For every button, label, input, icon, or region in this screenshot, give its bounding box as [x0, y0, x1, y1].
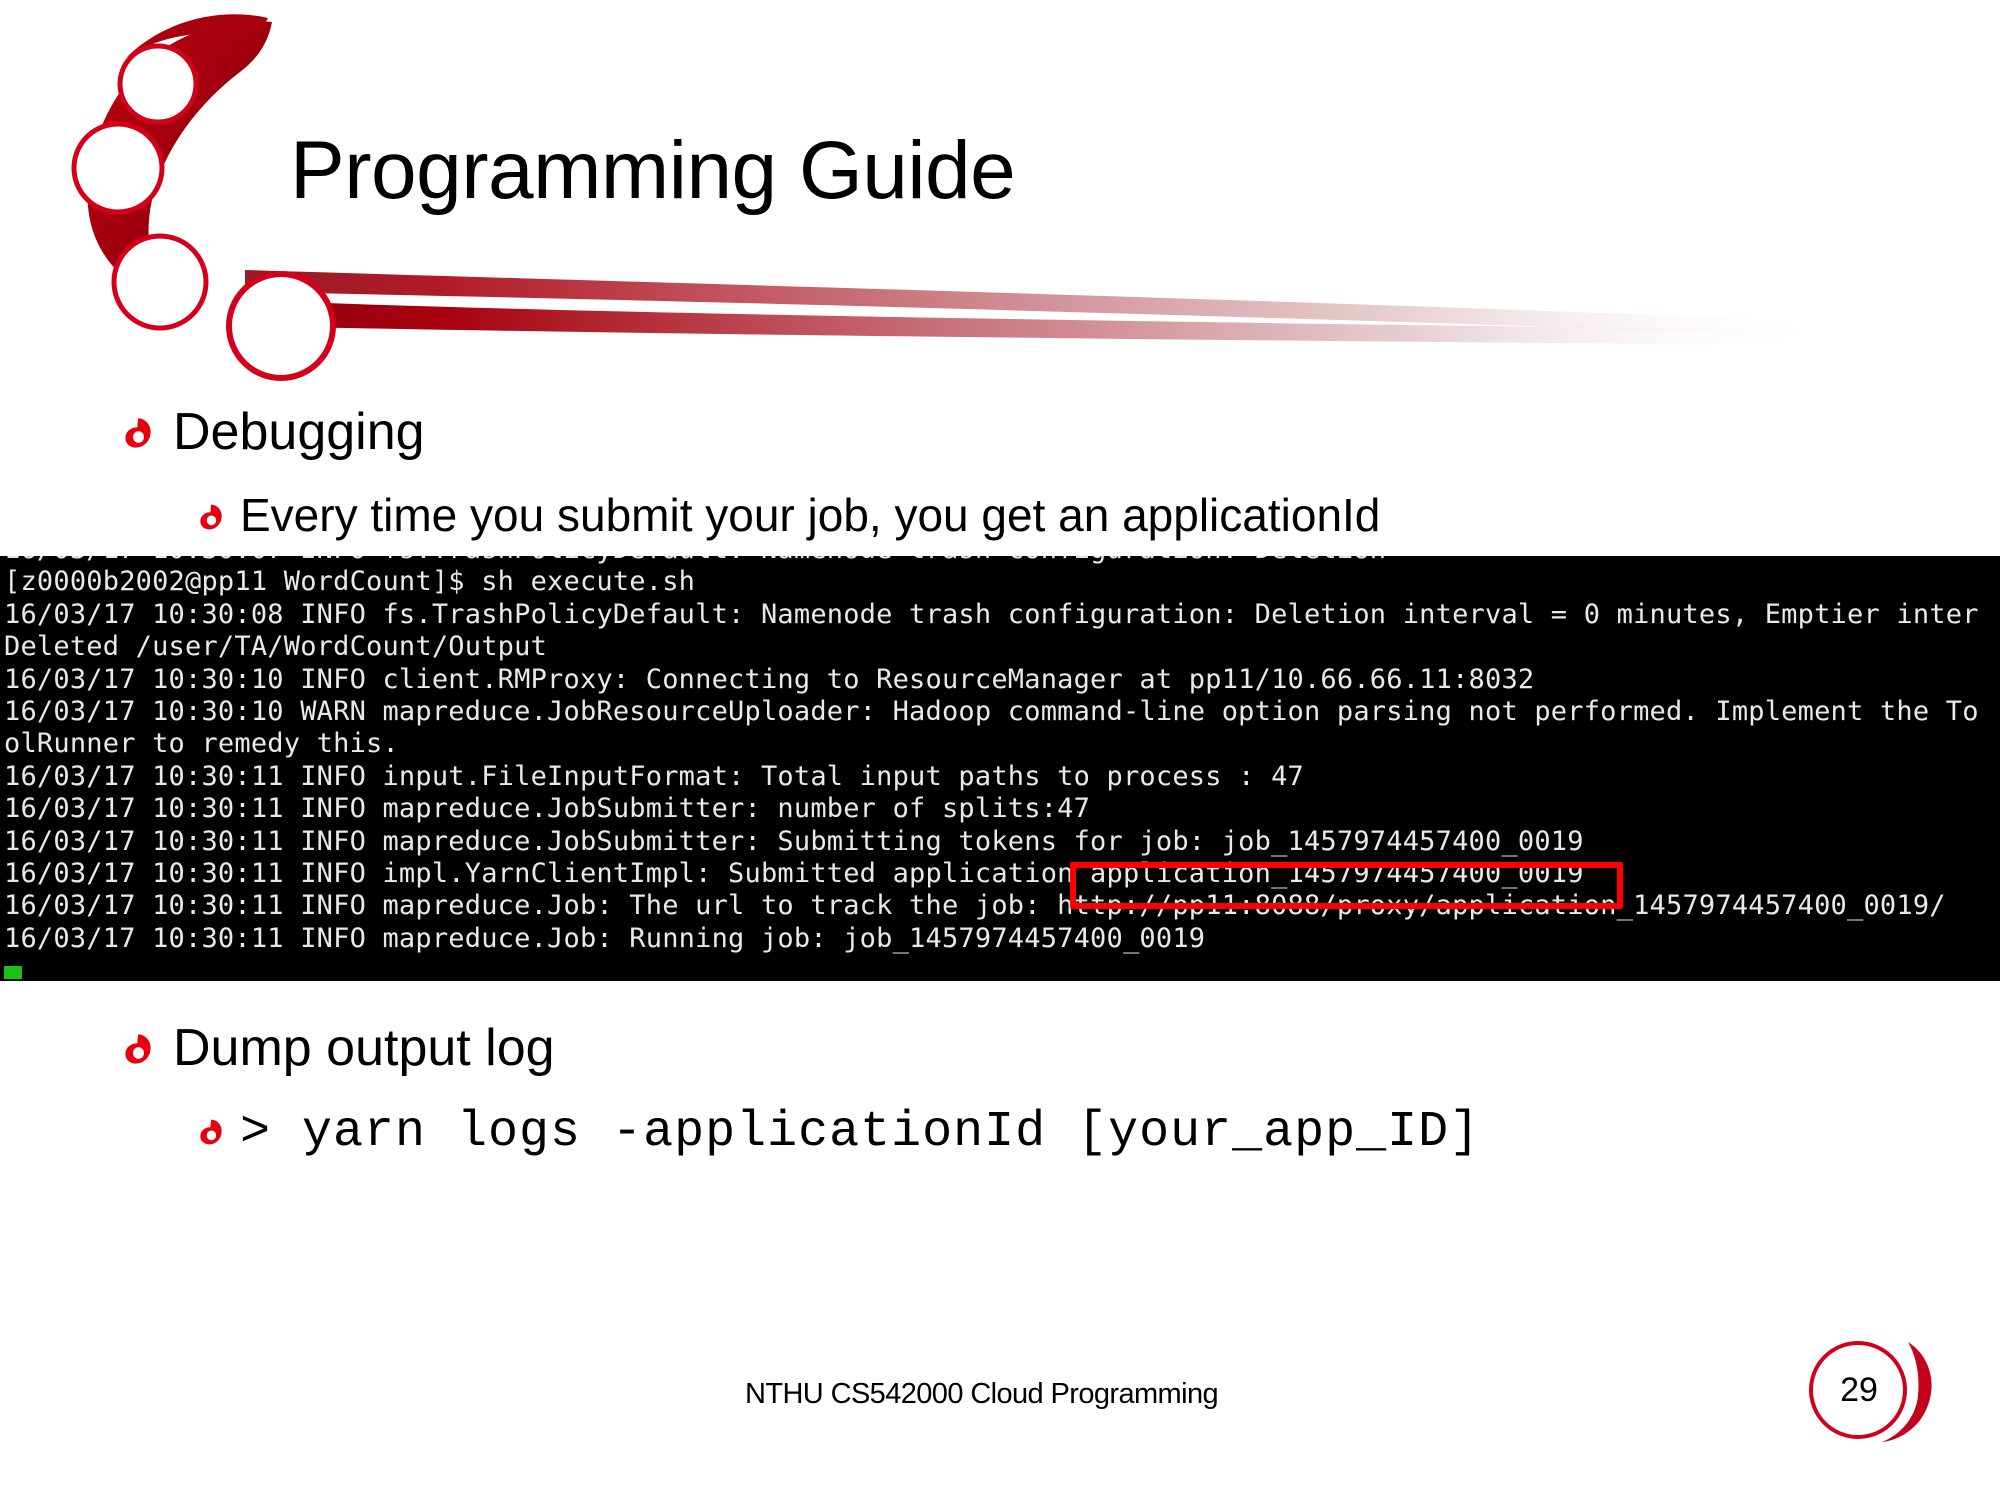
bullet-dump-command-text: > yarn logs -applicationId [your_app_ID] [240, 1105, 1480, 1160]
terminal-line: 16/03/17 10:30:11 INFO mapreduce.Job: Th… [4, 890, 2000, 922]
bullet-dump-command: > yarn logs -applicationId [your_app_ID] [200, 1105, 1480, 1160]
bullet-debugging-sub-label: Every time you submit your job, you get … [240, 490, 1380, 541]
bullet-dump-label: Dump output log [173, 1020, 555, 1077]
bullet-marker-icon [125, 1034, 151, 1064]
bullet-debugging: Debugging [125, 404, 425, 461]
terminal-line: 16/03/17 10:30:07 INFO fs.TrashPolicyDef… [4, 556, 2000, 566]
terminal-line: [z0000b2002@pp11 WordCount]$ sh execute.… [4, 566, 2000, 598]
application-id-highlight-box [1070, 862, 1623, 909]
bullet-marker-icon [125, 418, 151, 448]
bullet-marker-icon [200, 1119, 222, 1145]
terminal-line: 16/03/17 10:30:11 INFO impl.YarnClientIm… [4, 858, 2000, 890]
terminal-line: 16/03/17 10:30:10 INFO client.RMProxy: C… [4, 664, 2000, 696]
page-number: 29 [1790, 1330, 1940, 1450]
terminal-output: 16/03/17 10:30:07 INFO fs.TrashPolicyDef… [0, 556, 2000, 981]
footer-course-label: NTHU CS542000 Cloud Programming [745, 1378, 1218, 1411]
bullet-marker-icon [200, 504, 222, 530]
page-title: Programming Guide [290, 130, 1015, 212]
terminal-line: 16/03/17 10:30:11 INFO mapreduce.JobSubm… [4, 826, 2000, 858]
terminal-line: 16/03/17 10:30:11 INFO mapreduce.Job: Ru… [4, 923, 2000, 955]
terminal-line: 16/03/17 10:30:11 INFO input.FileInputFo… [4, 761, 2000, 793]
terminal-line: 16/03/17 10:30:11 INFO mapreduce.JobSubm… [4, 793, 2000, 825]
terminal-line: 16/03/17 10:30:10 WARN mapreduce.JobReso… [4, 696, 2000, 728]
terminal-line: Deleted /user/TA/WordCount/Output [4, 631, 2000, 663]
page-number-badge: 29 [1790, 1330, 1940, 1450]
terminal-line: 16/03/17 10:30:08 INFO fs.TrashPolicyDef… [4, 599, 2000, 631]
bullet-dump-output-log: Dump output log [125, 1020, 555, 1077]
bullet-debugging-label: Debugging [173, 404, 425, 461]
terminal-lines: 16/03/17 10:30:07 INFO fs.TrashPolicyDef… [4, 556, 2000, 955]
terminal-line: olRunner to remedy this. [4, 728, 2000, 760]
bullet-debugging-sub: Every time you submit your job, you get … [200, 490, 1380, 541]
terminal-cursor [4, 966, 22, 979]
